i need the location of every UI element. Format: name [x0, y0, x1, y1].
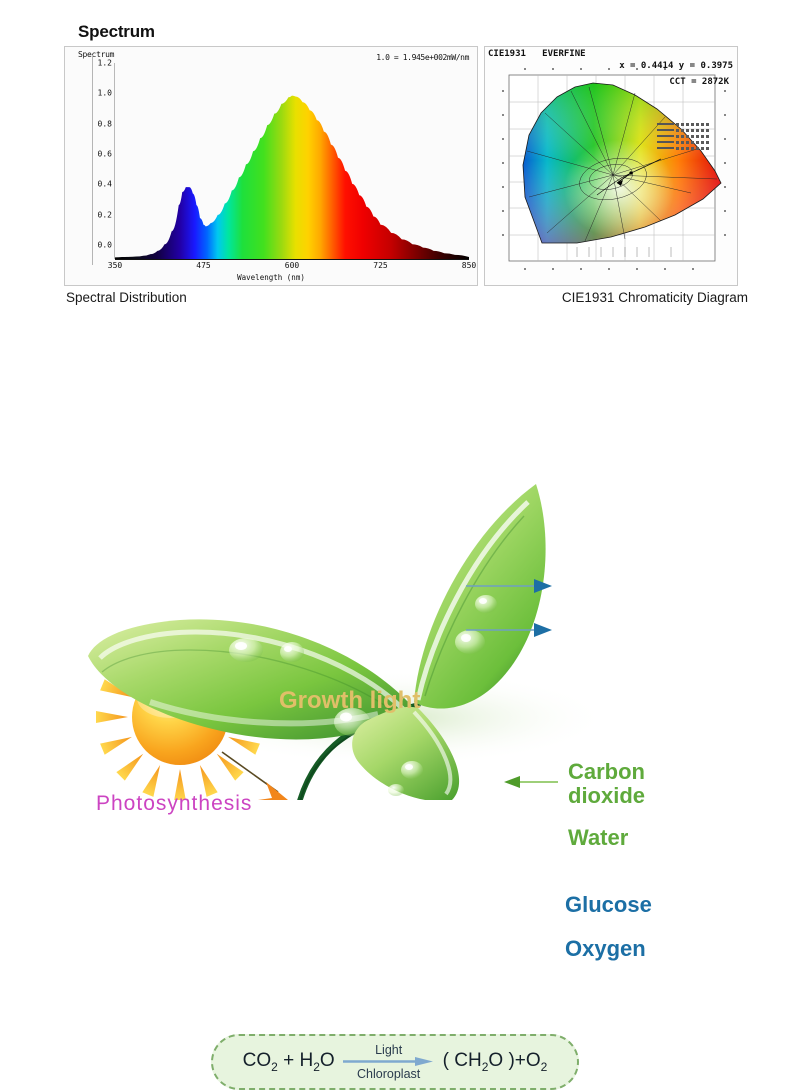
spectrum-x-tick: 725	[373, 261, 387, 270]
spectrum-y-tick: 0.6	[98, 150, 112, 159]
spectrum-x-tick: 600	[285, 261, 299, 270]
spectrum-y-tick: 1.0	[98, 89, 112, 98]
spectral-plot-area: Spectrum 1.0 = 1.945e+002mW/nm	[65, 47, 477, 285]
water-droplet	[475, 595, 497, 613]
cie-legend-swatch	[657, 123, 674, 125]
label-glucose: Glucose	[565, 893, 652, 917]
cie-title: CIE1931 EVERFINE	[488, 49, 586, 59]
cie-legend-text	[676, 147, 709, 150]
label-carbon-dioxide: Carbon dioxide	[568, 760, 645, 808]
cie-legend-swatch	[657, 141, 674, 143]
spectrum-report-section: Spectrum Spectrum 1.0 = 1.945e+002mW/nm	[0, 0, 800, 318]
cie-legend	[657, 121, 709, 161]
cie-xy-readout: x = 0.4414 y = 0.3975	[619, 61, 733, 71]
cie-legend-row	[657, 145, 709, 151]
cie-legend-text	[676, 123, 709, 126]
cie1931-chromaticity-chart: CIE1931 EVERFINE x = 0.4414 y = 0.3975 C…	[484, 46, 738, 286]
spectrum-x-tick: 350	[108, 261, 122, 270]
spectrum-y-tick: 0.0	[98, 241, 112, 250]
cie-legend-swatch	[657, 135, 674, 137]
equation-products: ( CH2O )+O2	[443, 1050, 548, 1074]
photosynthesis-diagram-section: Growth light Photosynthesis Carbon dioxi…	[0, 320, 800, 800]
spectrum-curve	[115, 63, 469, 259]
equation-arrow-above-label: Light	[375, 1044, 402, 1057]
equation-arrow-below-label: Chloroplast	[357, 1068, 420, 1081]
spectrum-x-axis-title: Wavelength (nm)	[65, 273, 477, 282]
spectrum-y-tick: 0.8	[98, 119, 112, 128]
spectrum-x-axis-line	[115, 259, 469, 260]
spectrum-inner-plot: 1.21.00.80.60.40.20.0 350475600725850	[115, 77, 469, 259]
cie-legend-text	[676, 135, 709, 138]
cie-legend-swatch	[657, 147, 674, 149]
label-water: Water	[568, 826, 628, 850]
spectrum-y-tick: 0.2	[98, 210, 112, 219]
label-photosynthesis: Photosynthesis	[96, 792, 252, 815]
water-droplet	[401, 761, 423, 779]
water-droplet	[280, 642, 304, 662]
input-arrow-carbon-dioxide	[504, 776, 558, 788]
water-droplet	[229, 638, 263, 662]
spectral-distribution-caption: Spectral Distribution	[66, 290, 187, 305]
photosynthesis-illustration	[0, 320, 800, 800]
spectrum-outer-axis-line	[92, 55, 93, 265]
label-growth-light: Growth light	[279, 688, 420, 714]
page-title: Spectrum	[78, 22, 155, 42]
spectrum-normalization-note: 1.0 = 1.945e+002mW/nm	[376, 53, 469, 62]
water-droplet	[388, 784, 404, 796]
photosynthesis-equation-box: CO2 + H2O Light Chloroplast ( CH2O )+O2	[211, 1034, 579, 1090]
spectrum-y-tick: 0.4	[98, 180, 112, 189]
cie-legend-text	[676, 129, 709, 132]
label-oxygen: Oxygen	[565, 937, 646, 961]
leaf-upper-right	[414, 484, 546, 709]
cie-legend-swatch	[657, 129, 674, 131]
spectral-distribution-chart: Spectrum 1.0 = 1.945e+002mW/nm	[64, 46, 478, 286]
cie-cct-readout: CCT = 2872K	[669, 77, 729, 87]
equation-reactants: CO2 + H2O	[243, 1050, 335, 1074]
spectrum-x-tick: 850	[462, 261, 476, 270]
equation-reaction-arrow: Light Chloroplast	[341, 1040, 437, 1084]
cie-legend-text	[676, 141, 709, 144]
spectrum-x-tick: 475	[196, 261, 210, 270]
water-droplet	[455, 630, 485, 654]
arrow-right-icon	[343, 1057, 435, 1066]
cie-chromaticity-caption: CIE1931 Chromaticity Diagram	[562, 290, 748, 305]
spectrum-y-tick: 1.2	[98, 59, 112, 68]
